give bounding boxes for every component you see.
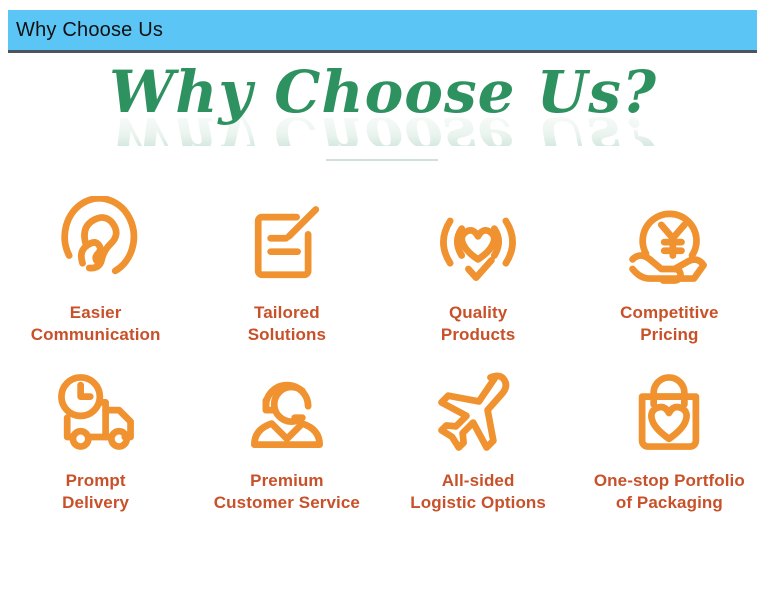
- features-row-2: Prompt Delivery Premium Customer Service…: [0, 364, 765, 515]
- hero-headline-graphic: Why Choose Us? Why Choose Us?: [83, 56, 683, 166]
- feature-competitive-pricing[interactable]: Competitive Pricing: [574, 196, 765, 347]
- delivery-truck-clock-icon: [48, 364, 144, 460]
- feature-premium-customer-service[interactable]: Premium Customer Service: [191, 364, 382, 515]
- feature-label: Prompt Delivery: [62, 470, 129, 515]
- feature-label: Competitive Pricing: [620, 302, 718, 347]
- feature-label: All-sided Logistic Options: [410, 470, 546, 515]
- hand-holding-yen-coin-icon: [621, 196, 717, 292]
- features-row-1: Easier Communication Tailored Solutions: [0, 196, 765, 347]
- hero-banner: Why Choose Us? Why Choose Us?: [0, 56, 765, 174]
- feature-prompt-delivery[interactable]: Prompt Delivery: [0, 364, 191, 515]
- features-grid: Easier Communication Tailored Solutions: [0, 196, 765, 515]
- feature-label: Easier Communication: [31, 302, 161, 347]
- document-pencil-icon: [239, 196, 335, 292]
- feature-label: One-stop Portfolio of Packaging: [594, 470, 745, 515]
- ear-in-circle-icon: [48, 196, 144, 292]
- headset-agent-icon: [239, 364, 335, 460]
- heart-check-signal-icon: [430, 196, 526, 292]
- shopping-bag-heart-icon: [621, 364, 717, 460]
- svg-text:Why Choose Us?: Why Choose Us?: [109, 104, 657, 166]
- feature-quality-products[interactable]: Quality Products: [383, 196, 574, 347]
- airplane-icon: [430, 364, 526, 460]
- feature-easier-communication[interactable]: Easier Communication: [0, 196, 191, 347]
- feature-label: Premium Customer Service: [214, 470, 360, 515]
- feature-one-stop-portfolio-packaging[interactable]: One-stop Portfolio of Packaging: [574, 364, 765, 515]
- feature-label: Quality Products: [441, 302, 515, 347]
- feature-label: Tailored Solutions: [248, 302, 326, 347]
- window-title-bar: Why Choose Us: [8, 10, 757, 53]
- feature-tailored-solutions[interactable]: Tailored Solutions: [191, 196, 382, 347]
- hero-divider: [326, 159, 438, 161]
- window-title: Why Choose Us: [8, 20, 163, 40]
- feature-all-sided-logistic-options[interactable]: All-sided Logistic Options: [383, 364, 574, 515]
